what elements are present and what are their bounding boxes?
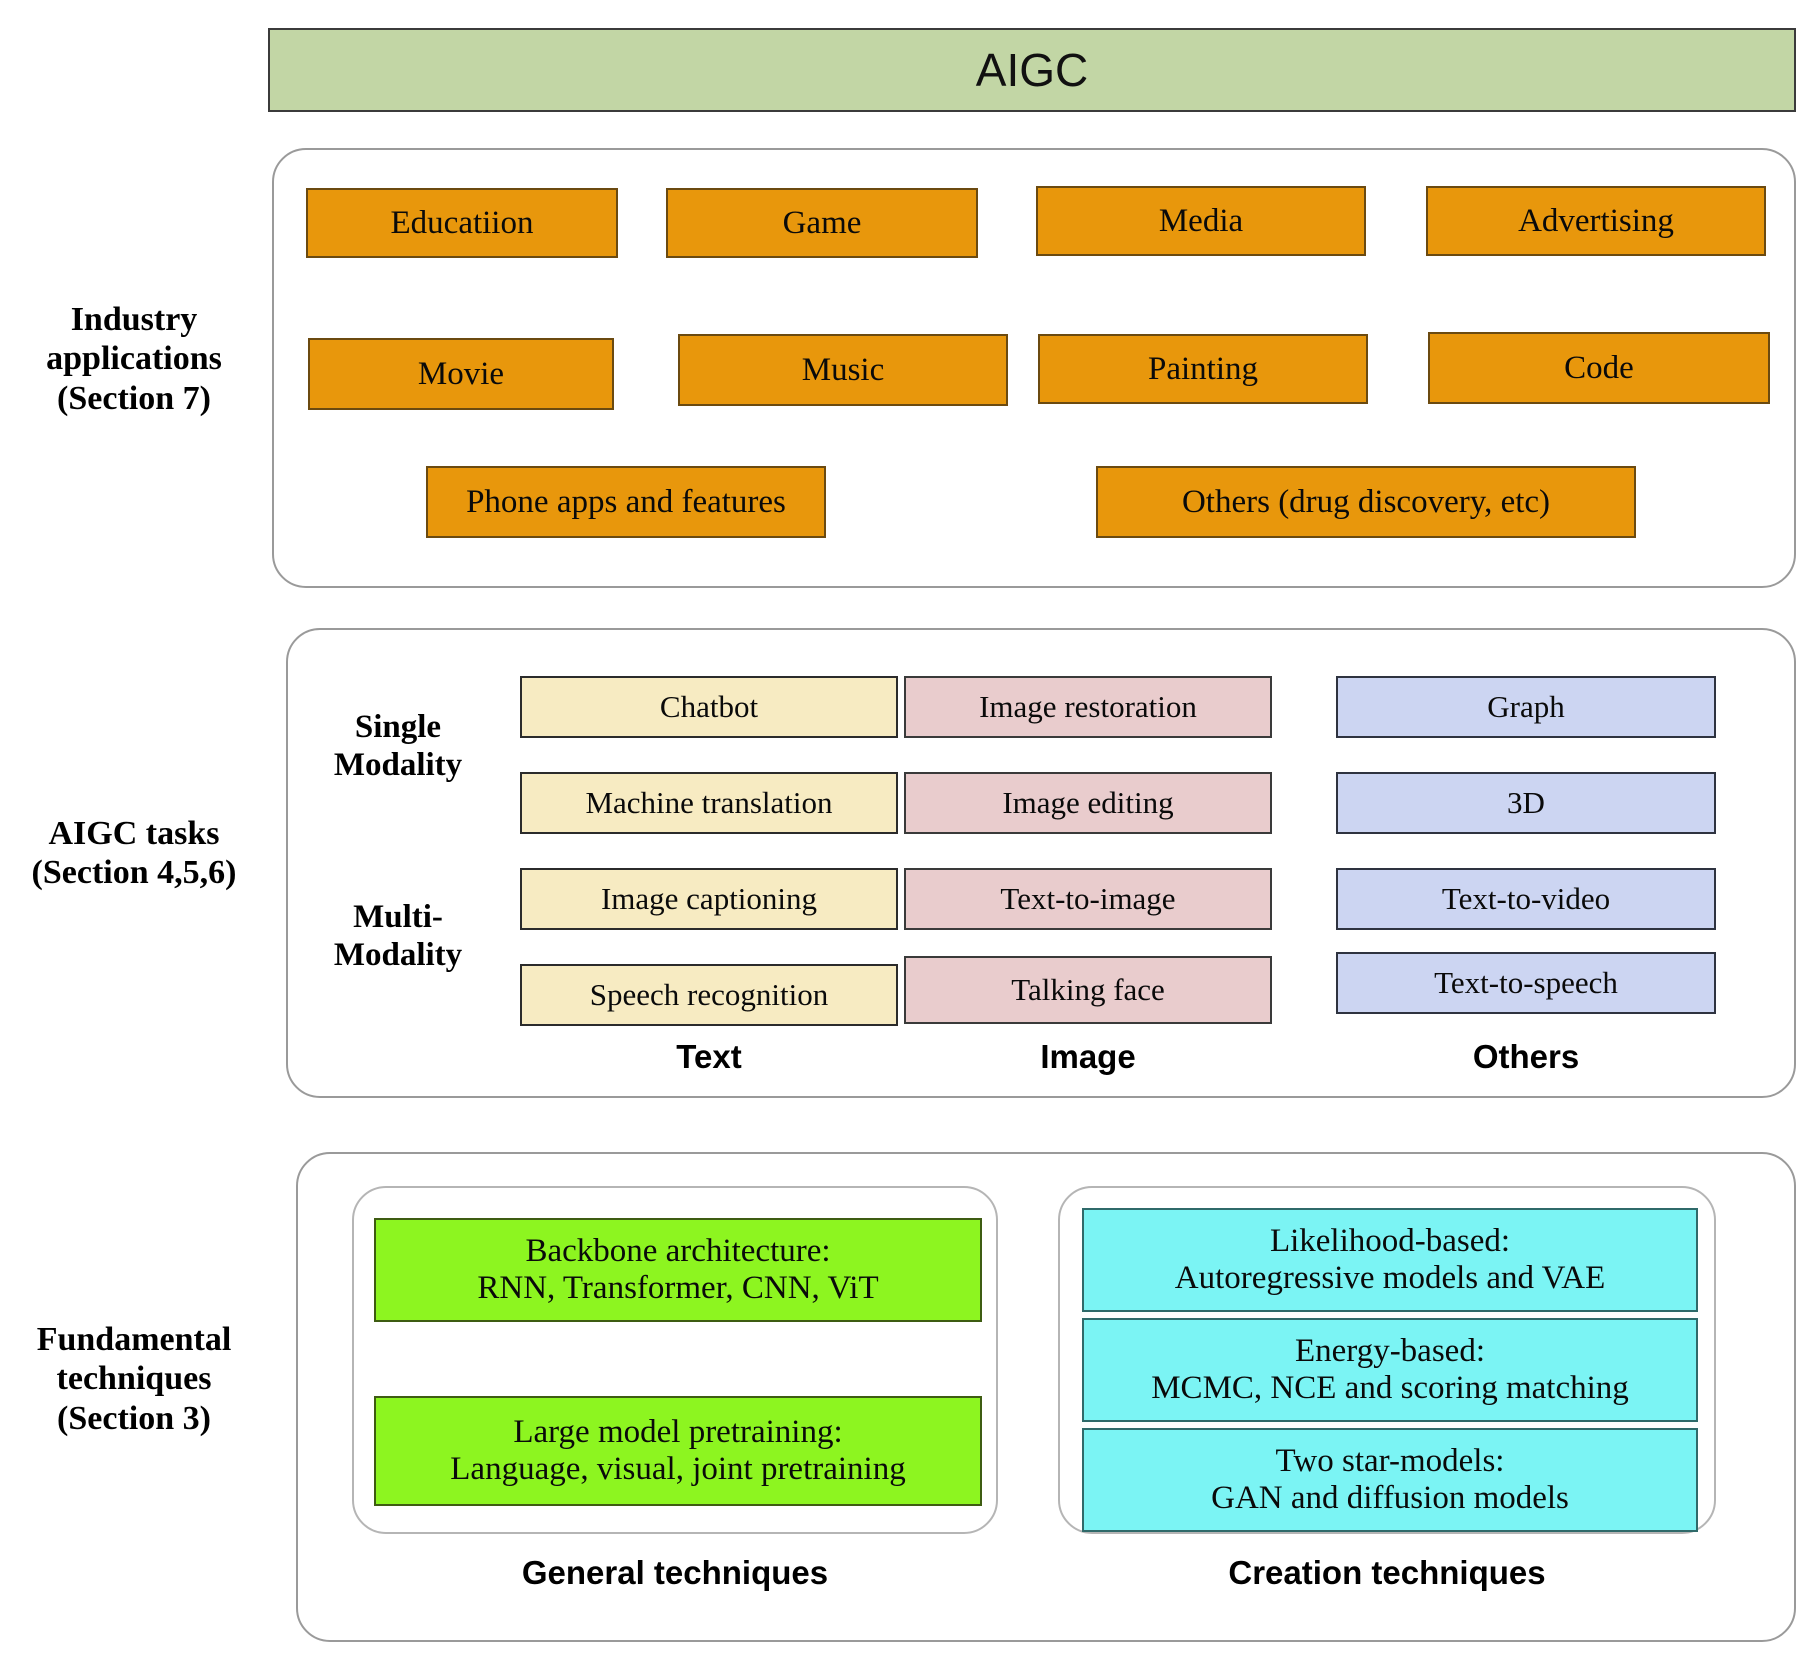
industry-node-others[interactable]: Others (drug discovery, etc) bbox=[1096, 466, 1636, 538]
industry-node-game[interactable]: Game bbox=[666, 188, 978, 258]
industry-label-line-2: applications bbox=[0, 339, 268, 378]
tasks-column-caption-text: Text bbox=[520, 1038, 898, 1076]
fundamental-label-line-1: Fundamental bbox=[0, 1320, 268, 1359]
tasks-column-caption-others: Others bbox=[1336, 1038, 1716, 1076]
modality-single-line-1: Single bbox=[298, 708, 498, 746]
industry-node-code[interactable]: Code bbox=[1428, 332, 1770, 404]
fundamental-section-label: Fundamental techniques (Section 3) bbox=[0, 1320, 268, 1438]
task-node-image-captioning[interactable]: Image captioning bbox=[520, 868, 898, 930]
industry-node-advertising[interactable]: Advertising bbox=[1426, 186, 1766, 256]
creation-techniques-group: Likelihood-based: Autoregressive models … bbox=[1058, 1186, 1716, 1534]
fundamental-label-line-3: (Section 3) bbox=[0, 1399, 268, 1438]
general-techniques-group: Backbone architecture: RNN, Transformer,… bbox=[352, 1186, 998, 1534]
industry-node-phone-apps[interactable]: Phone apps and features bbox=[426, 466, 826, 538]
industry-section-label: Industry applications (Section 7) bbox=[0, 300, 268, 418]
technique-node-energy-based[interactable]: Energy-based: MCMC, NCE and scoring matc… bbox=[1082, 1318, 1698, 1422]
tasks-label-line-1: AIGC tasks bbox=[0, 814, 268, 853]
aigc-tasks-container: Single Modality Multi- Modality Chatbot … bbox=[286, 628, 1796, 1098]
task-node-text-to-image[interactable]: Text-to-image bbox=[904, 868, 1272, 930]
task-node-image-restoration[interactable]: Image restoration bbox=[904, 676, 1272, 738]
task-node-graph[interactable]: Graph bbox=[1336, 676, 1716, 738]
task-node-3d[interactable]: 3D bbox=[1336, 772, 1716, 834]
industry-node-media[interactable]: Media bbox=[1036, 186, 1366, 256]
modality-single-line-2: Modality bbox=[298, 746, 498, 784]
industry-label-line-1: Industry bbox=[0, 300, 268, 339]
diagram-canvas: AIGC Industry applications (Section 7) E… bbox=[0, 0, 1818, 1657]
industry-node-painting[interactable]: Painting bbox=[1038, 334, 1368, 404]
fundamental-techniques-container: Backbone architecture: RNN, Transformer,… bbox=[296, 1152, 1796, 1642]
task-node-speech-recognition[interactable]: Speech recognition bbox=[520, 964, 898, 1026]
task-node-machine-translation[interactable]: Machine translation bbox=[520, 772, 898, 834]
industry-node-education[interactable]: Educatiion bbox=[306, 188, 618, 258]
tasks-column-caption-image: Image bbox=[904, 1038, 1272, 1076]
aigc-title-text: AIGC bbox=[976, 43, 1088, 97]
task-node-talking-face[interactable]: Talking face bbox=[904, 956, 1272, 1024]
task-node-chatbot[interactable]: Chatbot bbox=[520, 676, 898, 738]
industry-label-line-3: (Section 7) bbox=[0, 379, 268, 418]
technique-node-backbone-architecture[interactable]: Backbone architecture: RNN, Transformer,… bbox=[374, 1218, 982, 1322]
aigc-title-banner: AIGC bbox=[268, 28, 1796, 112]
tasks-section-label: AIGC tasks (Section 4,5,6) bbox=[0, 814, 268, 893]
modality-multi-line-2: Modality bbox=[298, 936, 498, 974]
modality-label-multi: Multi- Modality bbox=[298, 898, 498, 975]
industry-applications-container: Educatiion Game Media Advertising Movie … bbox=[272, 148, 1796, 588]
task-node-text-to-speech[interactable]: Text-to-speech bbox=[1336, 952, 1716, 1014]
industry-node-music[interactable]: Music bbox=[678, 334, 1008, 406]
task-node-text-to-video[interactable]: Text-to-video bbox=[1336, 868, 1716, 930]
technique-node-two-star-models[interactable]: Two star-models: GAN and diffusion model… bbox=[1082, 1428, 1698, 1532]
task-node-image-editing[interactable]: Image editing bbox=[904, 772, 1272, 834]
tasks-label-line-2: (Section 4,5,6) bbox=[0, 853, 268, 892]
fundamental-caption-creation: Creation techniques bbox=[1058, 1554, 1716, 1592]
fundamental-caption-general: General techniques bbox=[352, 1554, 998, 1592]
modality-multi-line-1: Multi- bbox=[298, 898, 498, 936]
modality-label-single: Single Modality bbox=[298, 708, 498, 785]
industry-node-movie[interactable]: Movie bbox=[308, 338, 614, 410]
fundamental-label-line-2: techniques bbox=[0, 1359, 268, 1398]
technique-node-large-model-pretraining[interactable]: Large model pretraining: Language, visua… bbox=[374, 1396, 982, 1506]
technique-node-likelihood-based[interactable]: Likelihood-based: Autoregressive models … bbox=[1082, 1208, 1698, 1312]
